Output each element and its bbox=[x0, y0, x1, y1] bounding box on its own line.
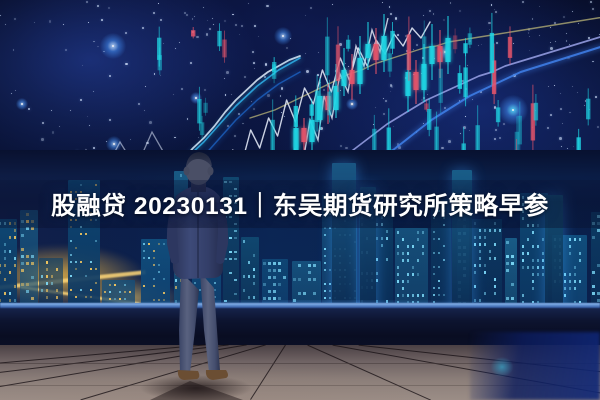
left-trouser-leg bbox=[179, 272, 199, 373]
left-ear bbox=[184, 167, 190, 176]
page-title: 股融贷 20230131｜东吴期货研究所策略早参 bbox=[0, 180, 600, 228]
left-shoe bbox=[178, 370, 199, 380]
right-ear bbox=[208, 167, 214, 176]
right-trouser-leg bbox=[200, 272, 220, 372]
poster-image: 股融贷 20230131｜东吴期货研究所策略早参 bbox=[0, 0, 600, 400]
